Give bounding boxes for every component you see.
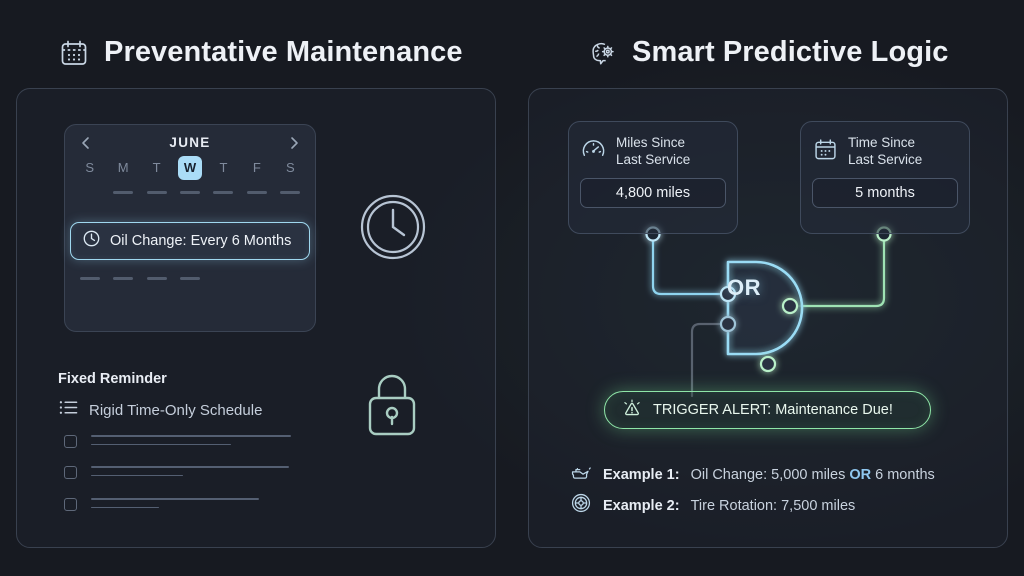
oil-can-icon <box>570 463 592 486</box>
trigger-alert-badge: TRIGGER ALERT: Maintenance Due! <box>604 391 931 429</box>
calendar-icon <box>813 137 838 167</box>
wire-secondary-input <box>692 324 728 396</box>
trigger-alert-text: TRIGGER ALERT: Maintenance Due! <box>653 402 893 418</box>
fixed-reminder-title: Fixed Reminder <box>58 371 167 387</box>
chevron-left-icon[interactable] <box>79 136 93 150</box>
or-gate-label: OR <box>727 275 761 301</box>
reminder-item-row <box>64 433 291 448</box>
placeholder-lines <box>91 496 259 508</box>
left-panel-header: Preventative Maintenance <box>58 36 463 69</box>
page-title-right: Smart Predictive Logic <box>632 36 948 69</box>
input-card-header: Time SinceLast Service <box>801 122 969 169</box>
gate-input-node-2 <box>721 317 735 331</box>
gate-output-node <box>783 299 797 313</box>
input-card-label: Time SinceLast Service <box>848 135 922 169</box>
gate-bottom-node <box>761 357 775 371</box>
list-icon <box>58 398 79 422</box>
wire-miles-to-gate <box>647 228 729 295</box>
input-card-header: Miles SinceLast Service <box>569 122 737 169</box>
calendar-week-row-1 <box>65 182 315 203</box>
clock-icon <box>82 229 101 253</box>
input-card-value: 4,800 miles <box>580 178 726 208</box>
checkbox-unchecked-icon[interactable] <box>64 498 77 511</box>
calendar-month-label: JUNE <box>169 135 210 150</box>
reminder-item-row <box>64 496 259 511</box>
example-1-detail: Oil Change: 5,000 miles OR 6 months <box>691 467 935 483</box>
page-title-left: Preventative Maintenance <box>104 36 463 69</box>
day-header-1[interactable]: M <box>106 156 139 180</box>
input-card-time[interactable]: Time SinceLast Service 5 months <box>800 121 970 234</box>
day-header-2[interactable]: T <box>140 156 173 180</box>
placeholder-lines <box>91 433 291 445</box>
calendar-header: JUNE <box>65 125 315 154</box>
example-row-2: Example 2: Tire Rotation: 7,500 miles <box>570 492 855 519</box>
example-2-label: Example 2: <box>603 498 680 514</box>
chevron-right-icon[interactable] <box>287 136 301 150</box>
input-card-label: Miles SinceLast Service <box>616 135 690 169</box>
fixed-reminder-subtitle: Rigid Time-Only Schedule <box>89 402 262 419</box>
infographic-canvas: Preventative Maintenance JUNE S M T W T … <box>0 0 1024 576</box>
calendar-event-oil-change[interactable]: Oil Change: Every 6 Months <box>70 222 310 260</box>
clock-icon <box>358 192 428 267</box>
lock-icon <box>360 370 424 445</box>
tire-icon <box>570 492 592 519</box>
placeholder-lines <box>91 464 289 476</box>
warning-triangle-icon <box>621 397 643 424</box>
calendar-event-label: Oil Change: Every 6 Months <box>110 233 291 249</box>
input-card-miles[interactable]: Miles SinceLast Service 4,800 miles <box>568 121 738 234</box>
day-header-0[interactable]: S <box>73 156 106 180</box>
wire-time-to-gate <box>790 228 891 307</box>
right-panel-header: Smart Predictive Logic <box>586 36 948 69</box>
calendar-day-headers: S M T W T F S <box>65 154 315 180</box>
calendar-icon <box>58 37 90 69</box>
fixed-reminder-subtitle-row: Rigid Time-Only Schedule <box>58 398 262 422</box>
speedometer-icon <box>581 137 606 167</box>
checkbox-unchecked-icon[interactable] <box>64 466 77 479</box>
day-header-3-selected[interactable]: W <box>178 156 202 180</box>
input-card-value: 5 months <box>812 178 958 208</box>
day-header-4[interactable]: T <box>207 156 240 180</box>
day-header-6[interactable]: S <box>274 156 307 180</box>
calendar-week-row-3 <box>65 268 315 289</box>
reminder-item-row <box>64 464 289 479</box>
example-1-label: Example 1: <box>603 467 680 483</box>
example-row-1: Example 1: Oil Change: 5,000 miles OR 6 … <box>570 463 935 486</box>
brain-gear-icon <box>586 37 618 69</box>
checkbox-unchecked-icon[interactable] <box>64 435 77 448</box>
example-2-detail: Tire Rotation: 7,500 miles <box>691 498 856 514</box>
day-header-5[interactable]: F <box>240 156 273 180</box>
